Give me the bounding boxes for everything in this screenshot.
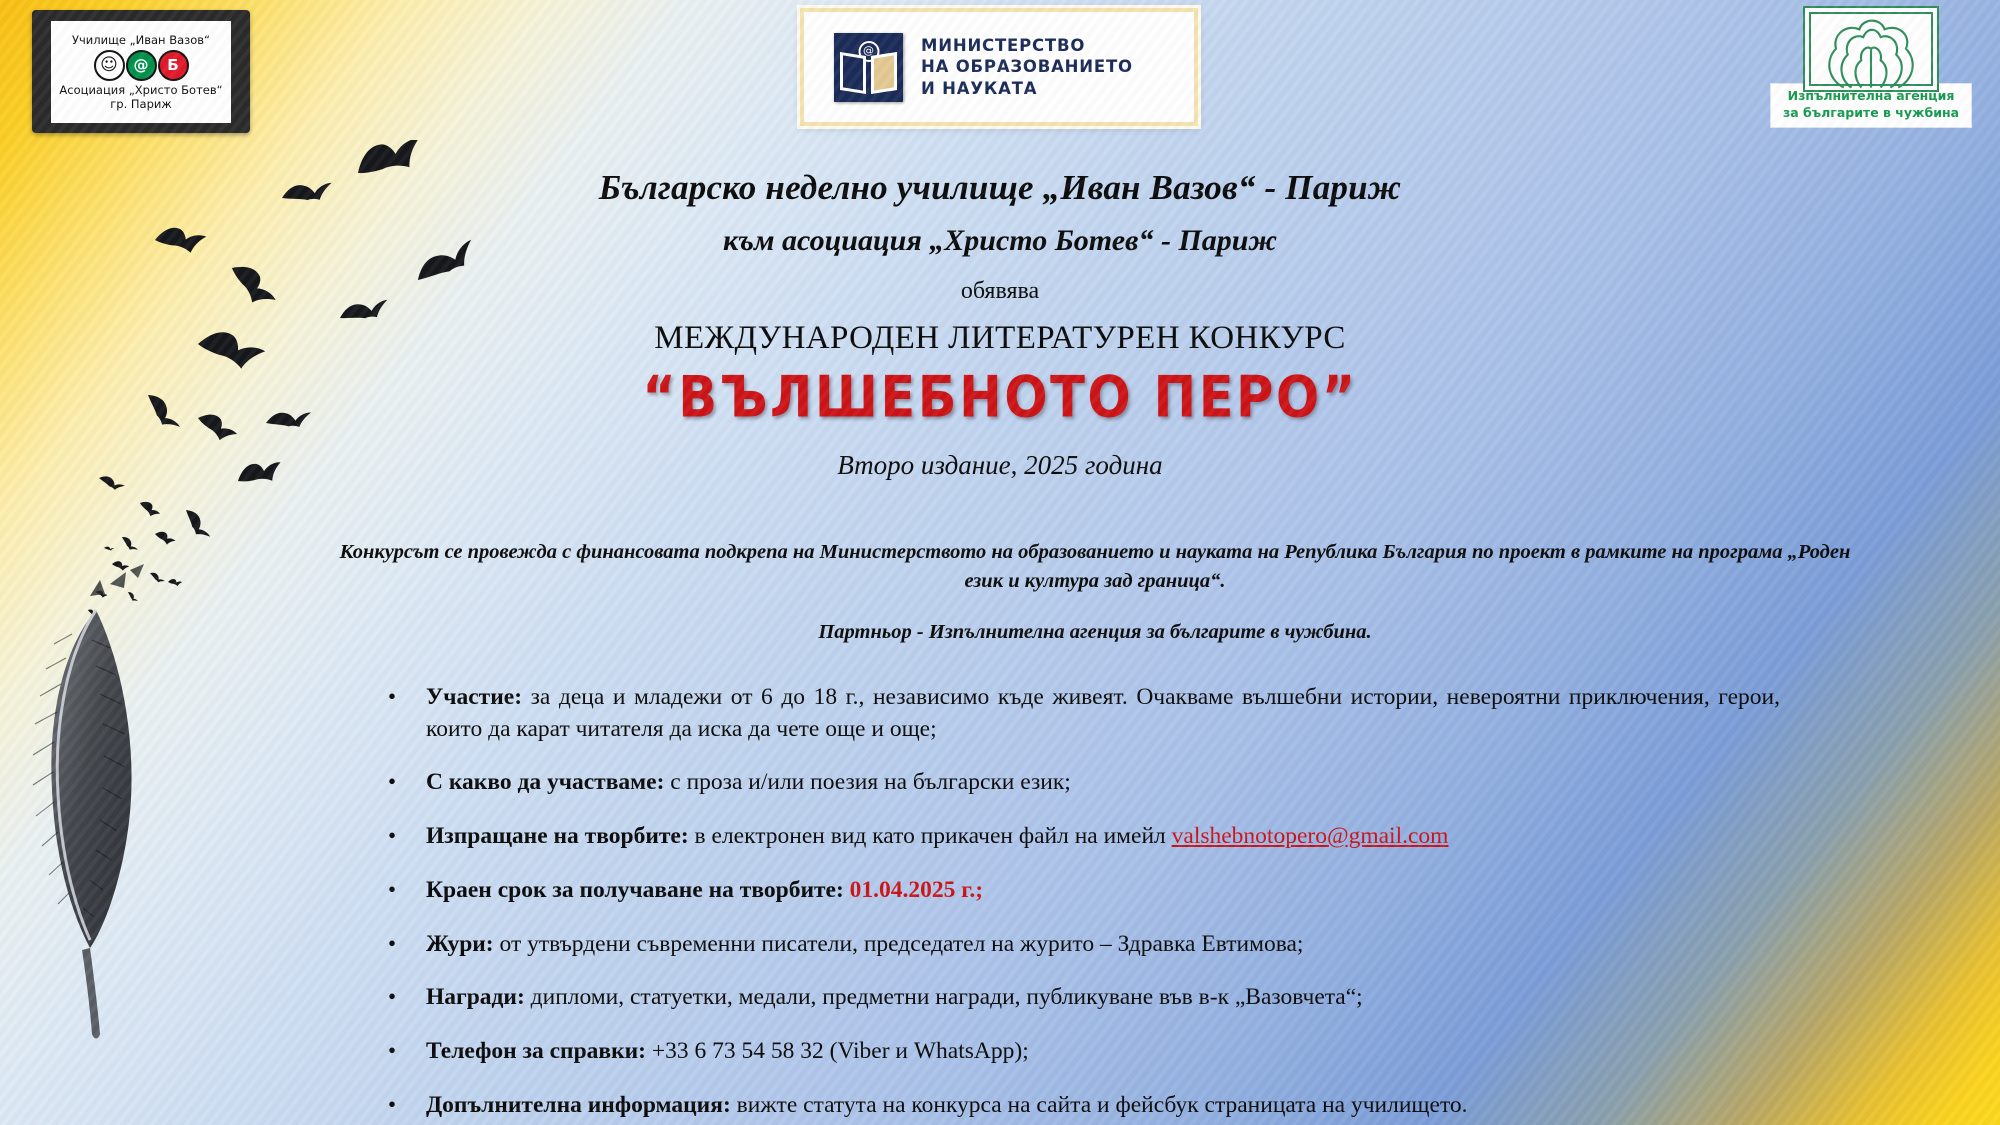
submission-email-link[interactable]: valshebnotopero@gmail.com xyxy=(1172,823,1449,849)
funding-support-note: Конкурсът се провежда с финансовата подк… xyxy=(330,538,1860,647)
bullet-marker-icon: • xyxy=(380,821,426,851)
list-item-jury: •Жури: от утвърдени съвременни писатели,… xyxy=(380,929,1780,961)
list-item-body: дипломи, статуетки, медали, предметни на… xyxy=(525,984,1363,1010)
logo-plate: Училище „Иван Вазов“ ☺ @ Б Асоциация „Хр… xyxy=(51,21,231,123)
contest-name-title: “ВЪЛШЕБНОТО ПЕРО” xyxy=(0,365,2000,431)
list-item-body: с проза и/или поезия на български език; xyxy=(664,769,1070,795)
list-item-label: Телефон за справки: xyxy=(426,1038,646,1064)
ministry-name: МИНИСТЕРСТВО НА ОБРАЗОВАНИЕТО И НАУКАТА xyxy=(921,35,1133,99)
list-item-what-to-submit: •С какво да участваме: с проза и/или пое… xyxy=(380,767,1780,799)
bullet-marker-icon: • xyxy=(380,1090,426,1120)
list-item-body: вижте статута на конкурса на сайта и фей… xyxy=(731,1092,1468,1118)
list-item-text: Участие: за деца и младежи от 6 до 18 г.… xyxy=(426,682,1780,745)
list-item-text: Жури: от утвърдени съвременни писатели, … xyxy=(426,929,1780,961)
contest-type-title: МЕЖДУНАРОДЕН ЛИТЕРАТУРЕН КОНКУРС xyxy=(0,320,2000,357)
list-item-more-info: •Допълнителна информация: вижте статута … xyxy=(380,1090,1780,1122)
deadline-date: 01.04.2025 г.; xyxy=(850,877,983,903)
list-item-phone: •Телефон за справки: +33 6 73 54 58 32 (… xyxy=(380,1036,1780,1068)
list-item-label: Изпращане на творбите: xyxy=(426,823,689,849)
tree-icon xyxy=(1803,6,1939,92)
list-item-label: Жури: xyxy=(426,931,494,957)
bullet-marker-icon: • xyxy=(380,767,426,797)
list-item-text: Краен срок за получаване на творбите: 01… xyxy=(426,875,1780,907)
list-item-body: от утвърдени съвременни писатели, предсе… xyxy=(494,931,1304,957)
contest-details-list: •Участие: за деца и младежи от 6 до 18 г… xyxy=(380,682,1780,1125)
list-item-text: Допълнителна информация: вижте статута н… xyxy=(426,1090,1780,1122)
open-book-icon: @ xyxy=(834,33,903,102)
poster-canvas: Училище „Иван Вазов“ ☺ @ Б Асоциация „Хр… xyxy=(0,0,2000,1125)
ministry-of-education-logo: @ МИНИСТЕРСТВО НА ОБРАЗОВАНИЕТО И НАУКАТ… xyxy=(800,8,1198,126)
ministry-line1: МИНИСТЕРСТВО xyxy=(921,35,1133,56)
headline-block: Българско неделно училище „Иван Вазов“ -… xyxy=(0,168,2000,481)
list-item-label: Награди: xyxy=(426,984,525,1010)
list-item-label: С какво да участваме: xyxy=(426,769,664,795)
list-item-participation: •Участие: за деца и младежи от 6 до 18 г… xyxy=(380,682,1780,745)
letter-b-icon: Б xyxy=(158,50,189,81)
list-item-label: Краен срок за получаване на творбите: xyxy=(426,877,844,903)
logo-school-line3: гр. Париж xyxy=(110,97,171,111)
partner-line: Партньор - Изпълнителна агенция за бълга… xyxy=(330,618,1860,647)
book-left-page xyxy=(840,51,866,93)
school-association-logo: Училище „Иван Вазов“ ☺ @ Б Асоциация „Хр… xyxy=(32,10,250,133)
support-line1: Конкурсът се провежда с финансовата подк… xyxy=(340,541,1566,563)
list-item-text: С какво да участваме: с проза и/или поез… xyxy=(426,767,1780,799)
list-item-text: Награди: дипломи, статуетки, медали, пре… xyxy=(426,982,1780,1014)
bullet-marker-icon: • xyxy=(380,682,426,712)
bullet-marker-icon: • xyxy=(380,875,426,905)
announces-label: обявява xyxy=(0,278,2000,305)
agency-line2: за българите в чужбина xyxy=(1773,105,1969,122)
list-item-text: Телефон за справки: +33 6 73 54 58 32 (V… xyxy=(426,1036,1780,1068)
agency-bulgarians-abroad-logo: Изпълнителна агенция за българите в чужб… xyxy=(1768,6,1974,134)
logo-school-line1: Училище „Иван Вазов“ xyxy=(72,33,210,47)
logo-school-line2: Асоциация „Христо Ботев“ xyxy=(59,83,222,97)
list-item-text: Изпращане на творбите: в електронен вид … xyxy=(426,821,1780,853)
book-right-page xyxy=(871,51,897,93)
at-icon: @ xyxy=(126,50,157,81)
association-title: към асоциация „Христо Ботев“ - Париж xyxy=(0,224,2000,258)
bullet-marker-icon: • xyxy=(380,982,426,1012)
bullet-marker-icon: • xyxy=(380,1036,426,1066)
edition-subtitle: Второ издание, 2025 година xyxy=(0,450,2000,481)
list-item-deadline: •Краен срок за получаване на творбите: 0… xyxy=(380,875,1780,907)
list-item-body: +33 6 73 54 58 32 (Viber и WhatsApp); xyxy=(646,1038,1029,1064)
smiley-icon: ☺ xyxy=(94,50,125,81)
list-item-body: в електронен вид като прикачен файл на и… xyxy=(689,823,1172,849)
ministry-line3: И НАУКАТА xyxy=(921,78,1133,99)
list-item-body: за деца и младежи от 6 до 18 г., независ… xyxy=(426,684,1780,742)
list-item-awards: •Награди: дипломи, статуетки, медали, пр… xyxy=(380,982,1780,1014)
ministry-line2: НА ОБРАЗОВАНИЕТО xyxy=(921,56,1133,77)
school-title: Българско неделно училище „Иван Вазов“ -… xyxy=(0,168,2000,208)
bullet-marker-icon: • xyxy=(380,929,426,959)
list-item-label: Допълнителна информация: xyxy=(426,1092,731,1118)
list-item-label: Участие: xyxy=(426,684,522,710)
list-item-sending-works: •Изпращане на творбите: в електронен вид… xyxy=(380,821,1780,853)
logo-badges: ☺ @ Б xyxy=(94,50,189,81)
